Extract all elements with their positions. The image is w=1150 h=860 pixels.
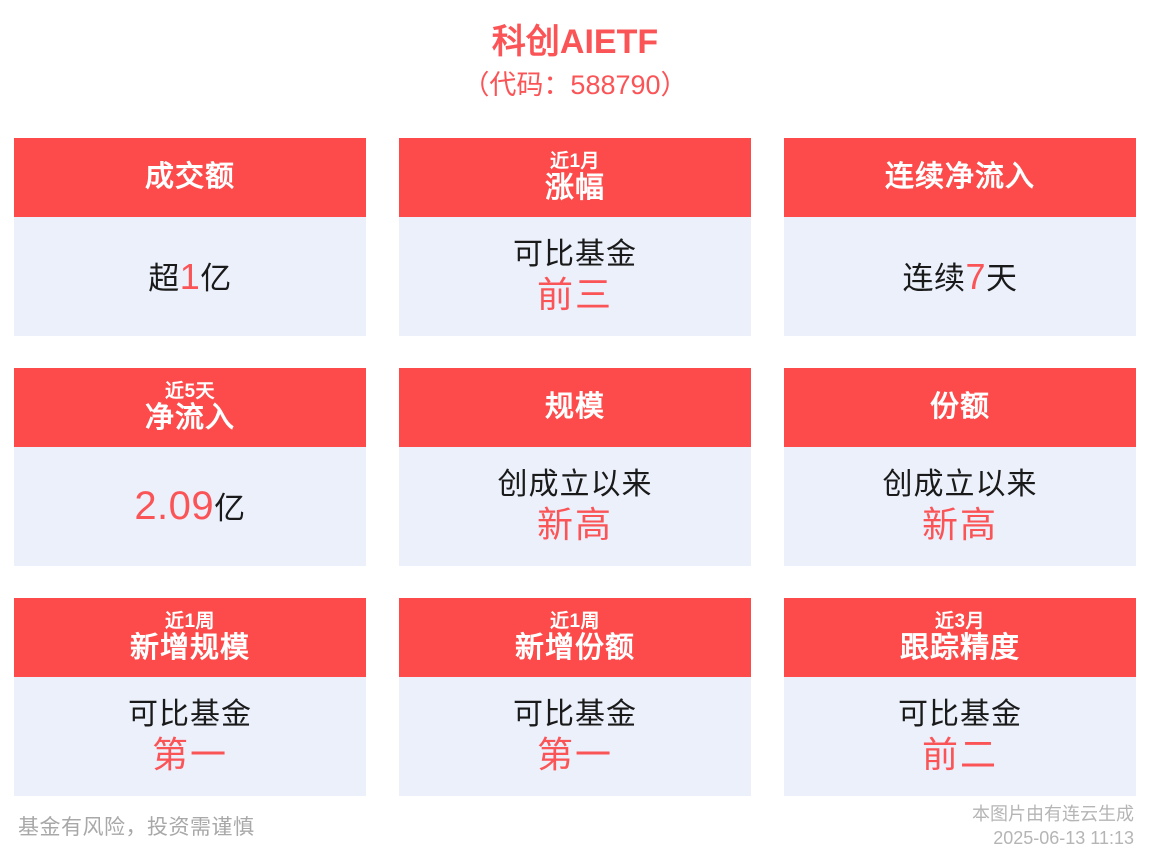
page-header: 科创AIETF （代码：588790） (0, 0, 1150, 104)
metric-body-highlight: 新高 (922, 504, 998, 545)
metric-card: 近5天净流入2.09亿 (14, 368, 366, 566)
metric-card-body: 超1亿 (14, 217, 366, 336)
metric-card-header: 成交额 (14, 138, 366, 217)
metric-title: 成交额 (145, 162, 235, 192)
page-title: 科创AIETF (0, 20, 1150, 64)
metric-body-prefix: 连续 (902, 261, 965, 296)
metric-title: 涨幅 (545, 173, 605, 203)
credit-timestamp: 2025-06-13 11:13 (972, 826, 1134, 850)
metric-card-body: 创成立以来新高 (784, 447, 1136, 566)
metric-card-body: 可比基金第一 (399, 677, 751, 796)
metric-period-label: 近1周 (165, 612, 215, 632)
metric-body-prefix: 超 (148, 261, 180, 296)
metric-card: 近1周新增规模可比基金第一 (14, 598, 366, 796)
metric-body-suffix: 亿 (214, 491, 246, 526)
metric-card-header: 份额 (784, 368, 1136, 447)
metric-title: 跟踪精度 (900, 633, 1020, 663)
metric-body-highlight: 第一 (537, 734, 613, 775)
metric-body-highlight: 前二 (922, 734, 998, 775)
metric-card: 成交额超1亿 (14, 138, 366, 336)
metric-body-line1: 可比基金 (513, 698, 637, 732)
metric-card-header: 近5天净流入 (14, 368, 366, 447)
metric-title: 新增规模 (130, 633, 250, 663)
metric-card: 连续净流入连续7天 (784, 138, 1136, 336)
metric-card-body: 可比基金前三 (399, 217, 751, 336)
metric-body-line1: 可比基金 (898, 698, 1022, 732)
metric-body-inline: 2.09亿 (134, 484, 245, 530)
metric-card-body: 创成立以来新高 (399, 447, 751, 566)
metric-body-highlight: 1 (180, 256, 201, 297)
metric-body-suffix: 天 (986, 261, 1018, 296)
metric-body-line1: 创成立以来 (883, 468, 1038, 502)
metric-card-header: 近1周新增份额 (399, 598, 751, 677)
metric-period-label: 近1月 (550, 152, 600, 172)
metric-body-line1: 创成立以来 (498, 468, 653, 502)
metric-title: 份额 (930, 392, 990, 422)
metric-body-line1: 可比基金 (128, 698, 252, 732)
metric-card: 近1周新增份额可比基金第一 (399, 598, 751, 796)
metric-period-label: 近3月 (935, 612, 985, 632)
metric-card: 近1月涨幅可比基金前三 (399, 138, 751, 336)
fund-code-subtitle: （代码：588790） (0, 66, 1150, 104)
page-footer: 基金有风险，投资需谨慎 本图片由有连云生成 2025-06-13 11:13 (0, 790, 1150, 860)
metric-period-label: 近5天 (165, 382, 215, 402)
metric-card-body: 连续7天 (784, 217, 1136, 336)
metric-body-highlight: 第一 (152, 734, 228, 775)
metric-body-inline: 超1亿 (148, 256, 232, 297)
metric-card-grid: 成交额超1亿近1月涨幅可比基金前三连续净流入连续7天近5天净流入2.09亿规模创… (14, 138, 1136, 796)
metric-card-body: 可比基金前二 (784, 677, 1136, 796)
generation-credit: 本图片由有连云生成 2025-06-13 11:13 (972, 802, 1134, 850)
risk-disclaimer: 基金有风险，投资需谨慎 (18, 811, 255, 841)
metric-card: 近3月跟踪精度可比基金前二 (784, 598, 1136, 796)
credit-source: 本图片由有连云生成 (972, 802, 1134, 826)
metric-body-suffix: 亿 (200, 261, 232, 296)
metric-card: 规模创成立以来新高 (399, 368, 751, 566)
metric-body-inline: 连续7天 (902, 256, 1017, 297)
metric-title: 净流入 (145, 403, 235, 433)
metric-body-highlight: 前三 (537, 274, 613, 315)
metric-body-line1: 可比基金 (513, 238, 637, 272)
metric-card-body: 2.09亿 (14, 447, 366, 566)
metric-card-header: 规模 (399, 368, 751, 447)
metric-body-highlight: 新高 (537, 504, 613, 545)
metric-card-header: 近1周新增规模 (14, 598, 366, 677)
metric-card: 份额创成立以来新高 (784, 368, 1136, 566)
metric-period-label: 近1周 (550, 612, 600, 632)
metric-body-highlight: 7 (965, 256, 986, 297)
metric-card-header: 近1月涨幅 (399, 138, 751, 217)
metric-card-body: 可比基金第一 (14, 677, 366, 796)
metric-body-highlight: 2.09 (134, 484, 214, 528)
metric-title: 连续净流入 (885, 162, 1035, 192)
metric-card-header: 近3月跟踪精度 (784, 598, 1136, 677)
metric-title: 新增份额 (515, 633, 635, 663)
metric-title: 规模 (545, 392, 605, 422)
metric-card-header: 连续净流入 (784, 138, 1136, 217)
